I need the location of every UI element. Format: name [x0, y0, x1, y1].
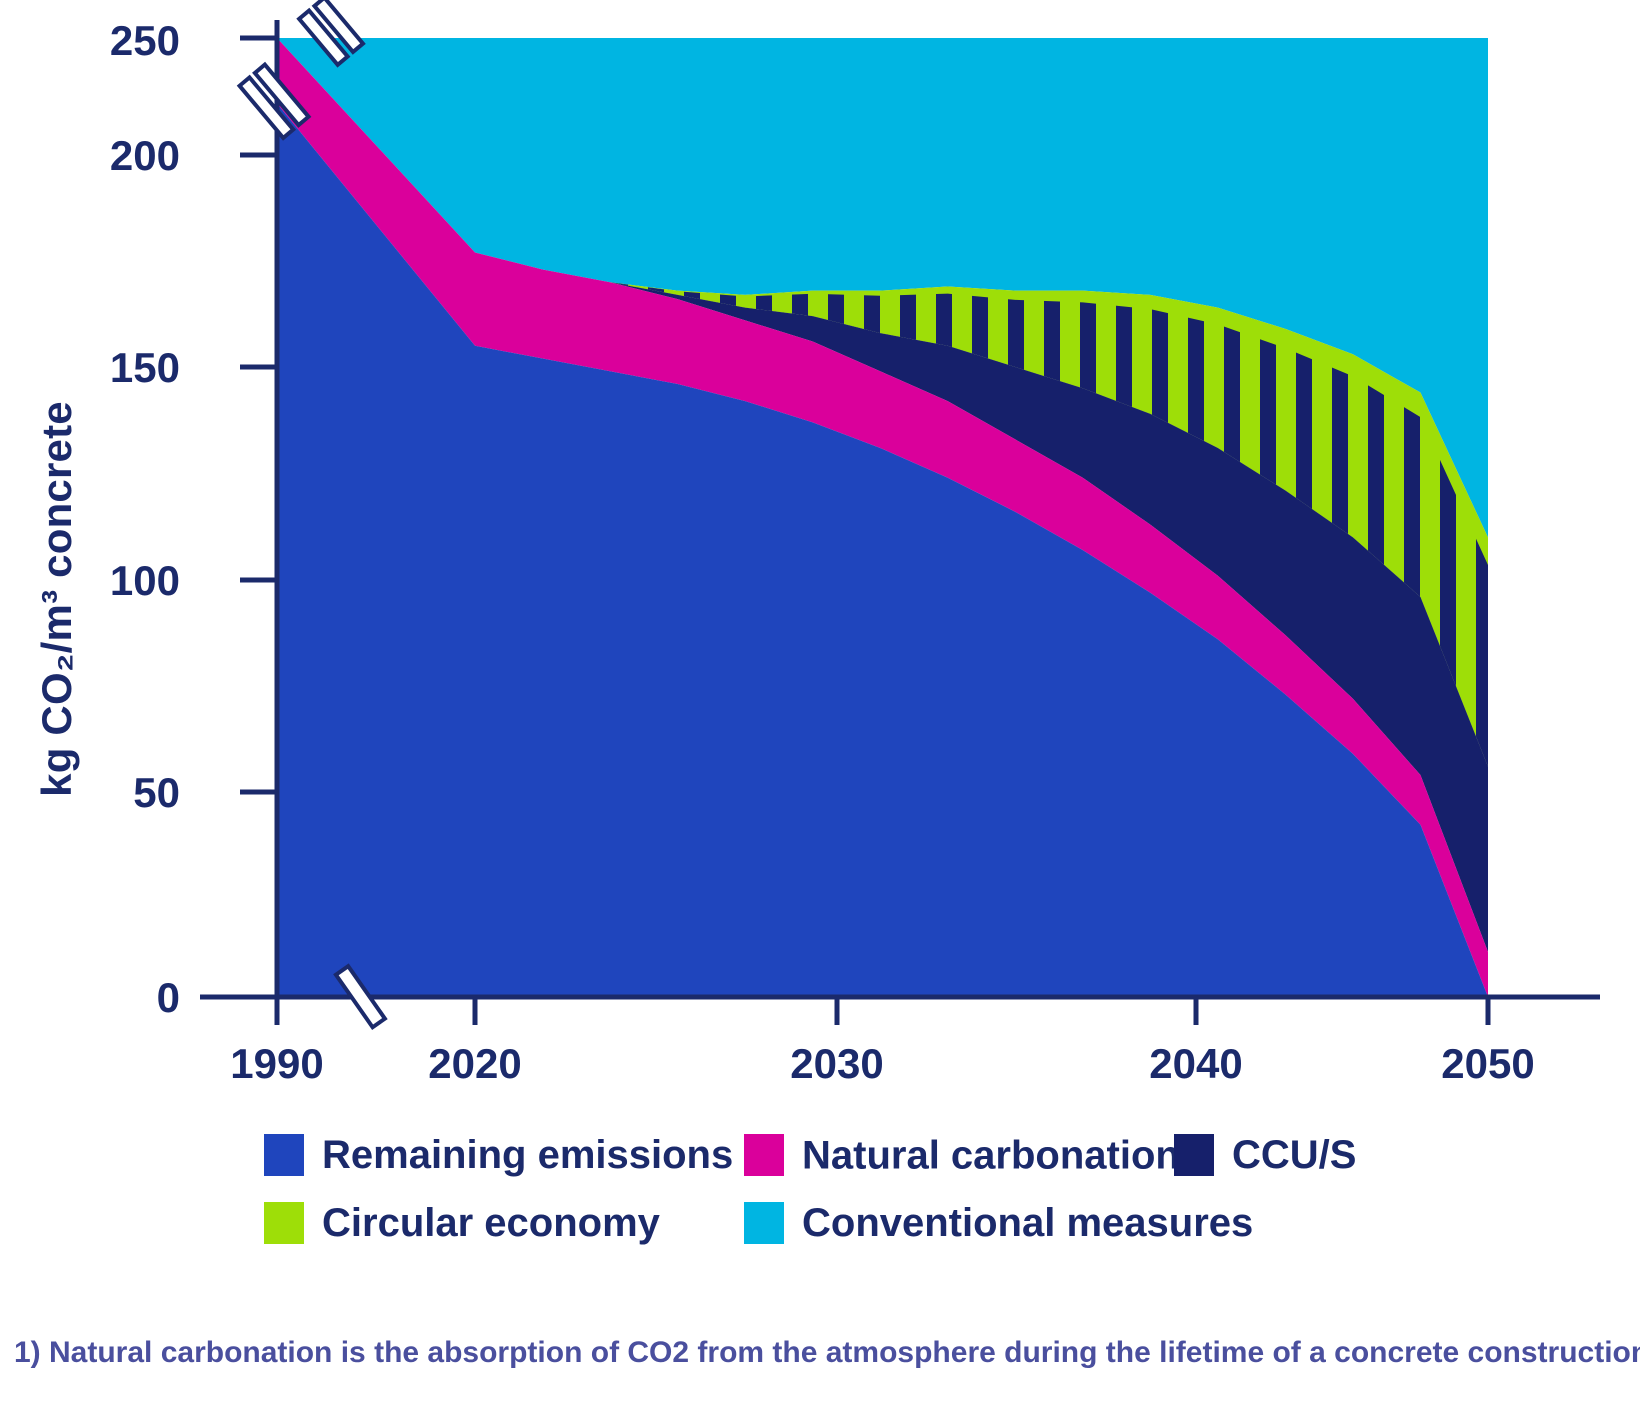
x-tick-marks — [277, 997, 1488, 1025]
legend-swatch-conventional-measures — [744, 1202, 784, 1244]
legend-item-conventional-measures[interactable]: Conventional measures — [744, 1202, 1174, 1244]
legend-label-remaining-emissions: Remaining emissions — [322, 1135, 733, 1175]
plot-area — [0, 0, 1640, 1060]
emissions-reduction-area-chart: kg CO₂/m³ concrete 250 200 150 100 50 0 … — [0, 0, 1640, 1409]
legend-row-2: Circular economy Conventional measures — [264, 1202, 1464, 1244]
legend-label-conventional-measures: Conventional measures — [802, 1203, 1253, 1243]
legend-item-remaining-emissions[interactable]: Remaining emissions — [264, 1134, 744, 1176]
legend-swatch-ccus — [1174, 1134, 1214, 1176]
chart-legend: Remaining emissions Natural carbonation1… — [264, 1134, 1464, 1270]
legend-swatch-circular-economy — [264, 1202, 304, 1244]
legend-swatch-remaining-emissions — [264, 1134, 304, 1176]
legend-label-ccus: CCU/S — [1232, 1135, 1356, 1175]
legend-label-circular-economy: Circular economy — [322, 1203, 660, 1243]
legend-label-natural-carbonation-text: Natural carbonation — [802, 1133, 1180, 1177]
legend-swatch-natural-carbonation — [744, 1134, 784, 1176]
chart-footnote: 1) Natural carbonation is the absorption… — [14, 1336, 1634, 1370]
legend-item-circular-economy[interactable]: Circular economy — [264, 1202, 744, 1244]
legend-item-ccus[interactable]: CCU/S — [1174, 1134, 1434, 1176]
legend-item-natural-carbonation[interactable]: Natural carbonation1 — [744, 1134, 1174, 1176]
legend-row-1: Remaining emissions Natural carbonation1… — [264, 1134, 1464, 1176]
y-tick-marks — [240, 38, 277, 997]
legend-label-natural-carbonation: Natural carbonation1 — [802, 1135, 1193, 1175]
